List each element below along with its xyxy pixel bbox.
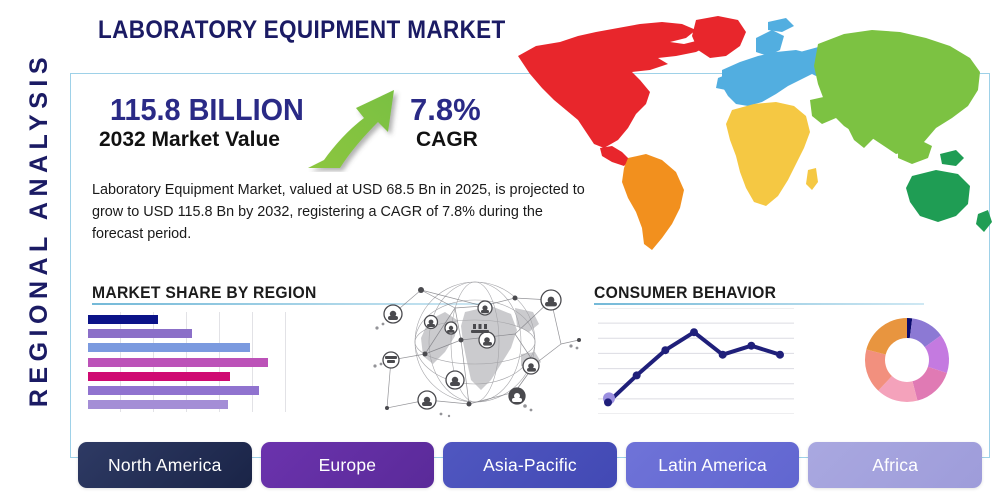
map-region-new-zealand: [976, 210, 992, 232]
region-buttons: North AmericaEuropeAsia-PacificLatin Ame…: [78, 440, 982, 490]
donut-segment: [912, 367, 946, 401]
map-region-central-america: [600, 146, 630, 166]
market-share-bar-chart: [88, 312, 286, 412]
bar-chart-bar: [88, 315, 158, 324]
consumer-behavior-section-title: CONSUMER BEHAVIOR: [594, 284, 776, 303]
line-chart-svg: [598, 308, 794, 414]
cagr-label: CAGR: [416, 128, 478, 152]
line-chart-point: [633, 371, 641, 379]
consumer-behavior-line-chart: [598, 308, 794, 414]
line-chart-point: [719, 351, 727, 359]
map-region-australia: [906, 170, 970, 222]
market-share-section-title: MARKET SHARE BY REGION: [92, 284, 317, 303]
bar-chart-bar: [88, 329, 192, 338]
cagr-figure: 7.8%: [410, 92, 481, 128]
map-region-greenland: [692, 16, 746, 58]
line-chart-point: [776, 351, 784, 359]
map-region-africa: [726, 102, 810, 206]
map-region-madagascar: [806, 168, 818, 190]
map-region-asia: [814, 30, 980, 154]
line-chart-point: [661, 346, 669, 354]
bar-chart-bar: [88, 358, 268, 367]
donut-segment: [866, 318, 907, 355]
growth-arrow-icon: [304, 86, 404, 172]
map-region-southeast-asia: [898, 138, 932, 164]
consumer-behavior-donut-chart: [857, 310, 957, 410]
line-chart-point: [690, 328, 698, 336]
hero-stats: 115.8 BILLION 2032 Market Value 7.8% CAG…: [92, 92, 512, 172]
map-region-south-america: [622, 154, 684, 250]
region-button-north-america[interactable]: North America: [78, 442, 252, 488]
consumer-behavior-section-rule: [594, 303, 924, 305]
map-region-north-america: [518, 22, 714, 148]
map-region-png: [940, 150, 964, 166]
world-map-icon: [500, 8, 998, 263]
region-button-europe[interactable]: Europe: [261, 442, 435, 488]
regional-analysis-side-label: REGIONAL ANALYSIS: [10, 0, 68, 460]
page-title: LABORATORY EQUIPMENT MARKET: [98, 16, 506, 45]
line-chart-series: [608, 332, 780, 402]
bar-chart-bar: [88, 343, 250, 352]
infographic-root: REGIONAL ANALYSIS LABORATORY EQUIPMENT M…: [0, 0, 1000, 500]
bar-chart-bar: [88, 372, 230, 381]
region-button-latin-america[interactable]: Latin America: [626, 442, 800, 488]
map-region-arctic-isles: [768, 18, 794, 32]
line-chart-point: [747, 342, 755, 350]
bar-gridline: [285, 312, 286, 412]
region-button-africa[interactable]: Africa: [808, 442, 982, 488]
market-value-figure: 115.8 BILLION: [110, 92, 304, 128]
line-chart-point: [604, 398, 612, 406]
bar-chart-bar: [88, 386, 259, 395]
bar-chart-bar: [88, 400, 228, 409]
donut-chart-svg: [857, 310, 957, 410]
region-button-asia-pacific[interactable]: Asia-Pacific: [443, 442, 617, 488]
globe-network-icon: [365, 268, 585, 420]
side-label-text: REGIONAL ANALYSIS: [25, 52, 54, 407]
market-value-label: 2032 Market Value: [99, 128, 280, 152]
